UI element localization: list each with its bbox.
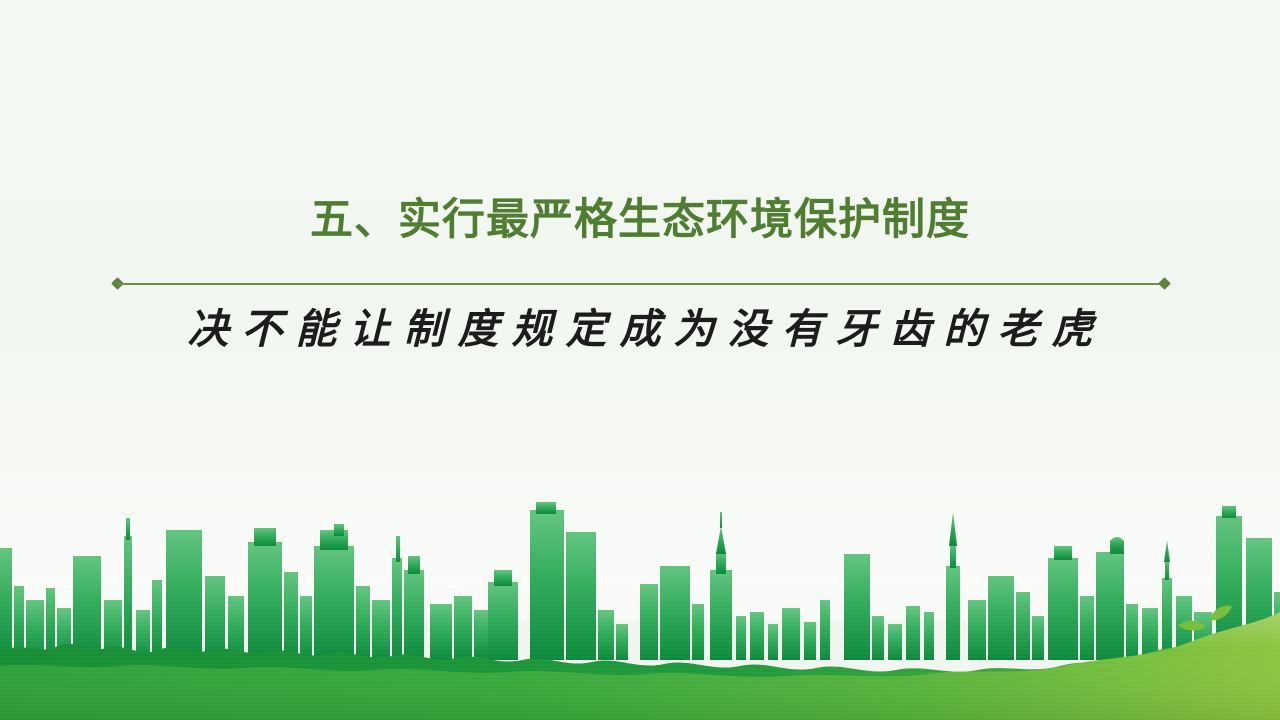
page-subtitle-text: 决不能让制度规定成为没有牙齿的老虎: [175, 305, 1106, 354]
skyline-buildings: [0, 502, 1280, 660]
slide-canvas: 五、实行最严格生态环境保护制度 决不能让制度规定成为没有牙齿的老虎: [0, 0, 1280, 720]
page-subtitle: 决不能让制度规定成为没有牙齿的老虎: [0, 305, 1280, 354]
divider-line: [118, 283, 1164, 285]
page-title: 五、实行最严格生态环境保护制度: [0, 196, 1280, 244]
city-skyline-illustration: [0, 500, 1280, 720]
page-title-text: 五、实行最严格生态环境保护制度: [310, 196, 970, 244]
divider: [113, 278, 1169, 290]
skyline-svg: [0, 500, 1280, 720]
divider-diamond-right-icon: [1158, 277, 1171, 290]
